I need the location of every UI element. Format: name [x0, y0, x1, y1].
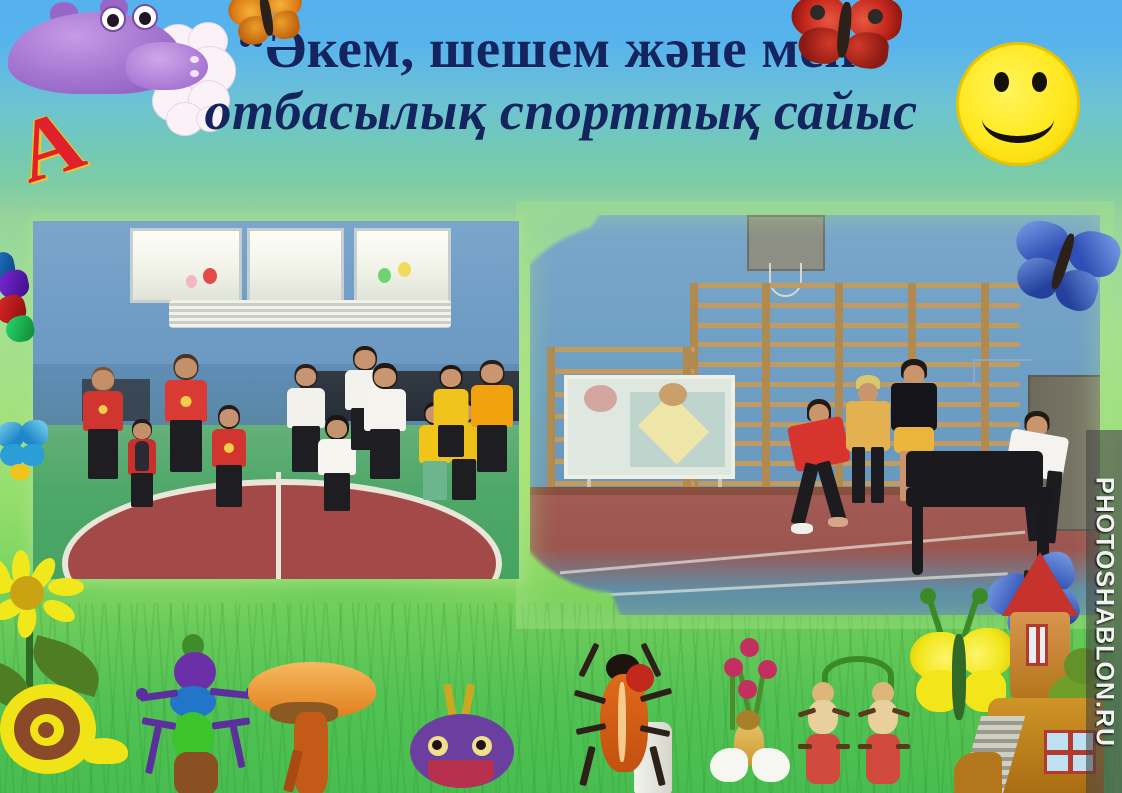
chair-back	[906, 451, 1043, 487]
bee-icon	[704, 636, 796, 793]
information-board	[564, 375, 735, 479]
butterfly-cyan-icon	[0, 420, 48, 484]
balloon	[398, 262, 411, 277]
person-adult-yellow	[432, 365, 470, 457]
gym-window	[130, 228, 242, 303]
watermark-text: PHOTOSHABLON.RU	[1090, 476, 1119, 746]
snail-icon	[0, 676, 130, 786]
caterpillar-icon	[398, 690, 526, 793]
ant-icon	[798, 682, 850, 793]
person-adult-red	[164, 354, 208, 472]
photo-left	[33, 221, 519, 579]
balloon	[186, 275, 197, 288]
gym-floor-line	[276, 472, 281, 579]
board-emblem	[584, 385, 617, 412]
chair-leg	[912, 503, 923, 575]
chair-seat	[906, 487, 1054, 507]
title-line-2: отбасылық спорттық сайыс	[0, 78, 1122, 144]
balloon	[203, 268, 217, 284]
title-line-1: “Әкем, шешем және мен”	[0, 18, 1122, 80]
person-adult-red	[82, 367, 124, 479]
person-child-red	[125, 419, 158, 507]
board-emblem	[659, 383, 687, 406]
grasshopper-icon	[136, 634, 264, 793]
gym-window	[247, 228, 344, 303]
person-child-red	[210, 405, 248, 507]
wall-pipe	[973, 359, 1032, 385]
photo-left-content	[33, 221, 519, 579]
watermark: PHOTOSHABLON.RU	[1086, 430, 1122, 793]
person-adult-yellow	[470, 360, 514, 472]
poster-canvas: “Әкем, шешем және мен” отбасылық спортты…	[0, 0, 1122, 793]
person-adult-white	[363, 363, 407, 479]
beetle-icon	[570, 638, 680, 788]
butterfly-red-icon	[786, 0, 906, 78]
poster-title: “Әкем, шешем және мен” отбасылық спортты…	[0, 18, 1122, 144]
balloon	[378, 268, 391, 283]
gym-radiator	[169, 300, 451, 329]
mushroom-icon	[248, 662, 384, 793]
ant-icon	[858, 682, 910, 793]
